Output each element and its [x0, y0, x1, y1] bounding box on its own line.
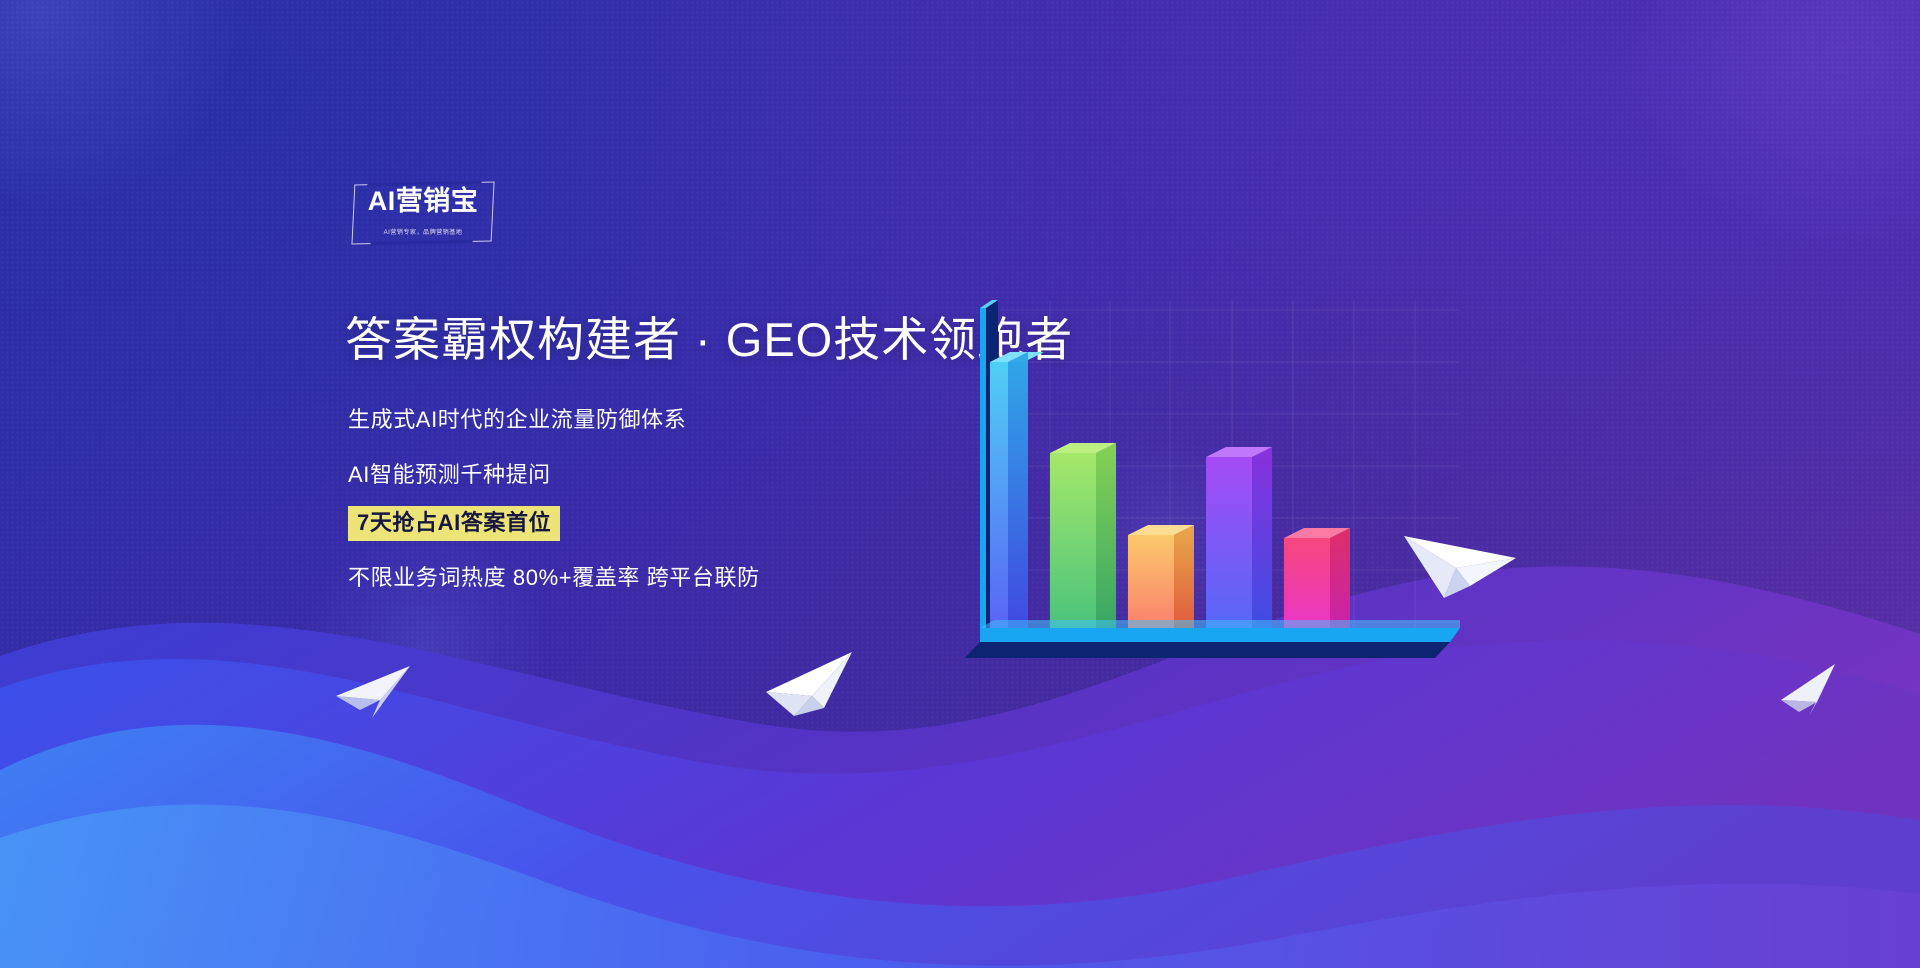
decor-circle-top-left: [0, 0, 240, 210]
bar-chart-illustration: [960, 290, 1460, 670]
brand-logo[interactable]: AI营销宝 AI营销专家，品牌营销基地: [353, 183, 493, 243]
chart-bar-4: [1206, 447, 1272, 650]
chart-bar-2: [1050, 443, 1116, 650]
hero-highlight-badge: 7天抢占AI答案首位: [348, 506, 560, 541]
hero-banner: AI营销宝 AI营销专家，品牌营销基地 答案霸权构建者 · GEO技术领跑者 生…: [0, 0, 1920, 968]
decor-circle-top-right: [1630, 0, 1920, 260]
hero-subline-2: AI智能预测千种提问: [348, 457, 551, 489]
logo-wordmark: AI营销宝: [353, 188, 493, 215]
chart-baseline-platform: [965, 620, 1460, 658]
logo-tagline: AI营销专家，品牌营销基地: [357, 230, 490, 236]
hero-subline-4: 不限业务词热度 80%+覆盖率 跨平台联防: [348, 560, 760, 592]
hero-subline-1: 生成式AI时代的企业流量防御体系: [348, 402, 686, 434]
hero-highlight-wrap: 7天抢占AI答案首位: [348, 506, 560, 541]
chart-bar-1: [990, 352, 1044, 650]
